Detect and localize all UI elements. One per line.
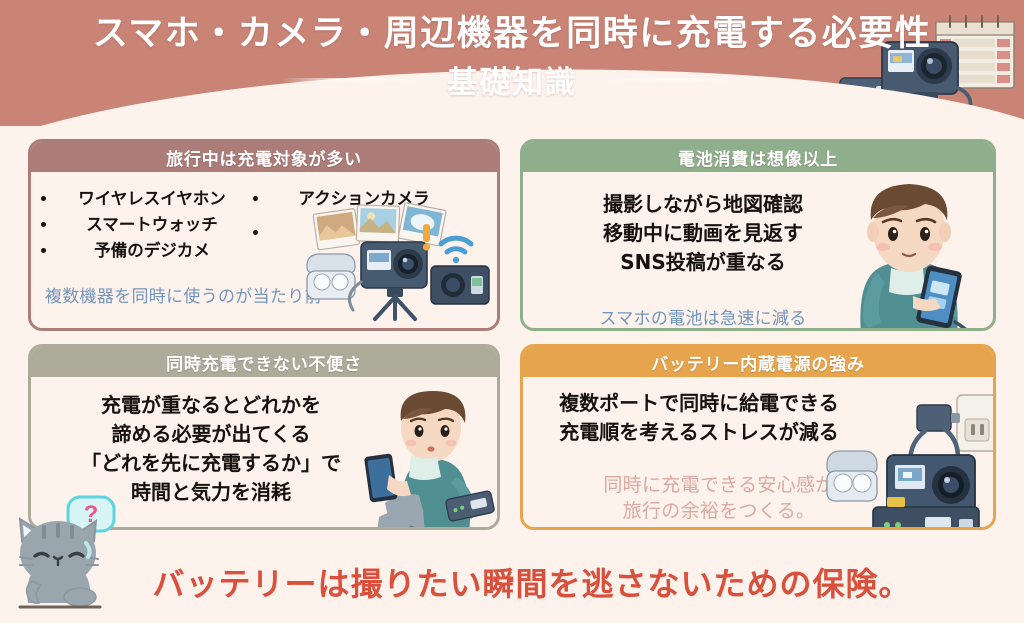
infographic-page: スマホ・カメラ・周辺機器を同時に充電する必要性 基礎知識 旅行中は充電対象が多い… — [0, 0, 1024, 623]
page-subtitle: 基礎知識 — [447, 57, 577, 102]
card-line: 「どれを先に充電するか」で — [45, 449, 377, 478]
bullet-dot-icon — [41, 248, 46, 253]
card-line: 移動中に動画を見返す — [543, 219, 863, 248]
bottom-banner: バッテリーは撮りたい瞬間を逃さないための保険。 — [0, 540, 1024, 623]
card-line: 撮影しながら地図確認 — [543, 190, 863, 219]
compact-camera-icon — [431, 266, 489, 304]
card-line: SNS投稿が重なる — [543, 248, 863, 277]
bullet-dot-icon — [253, 230, 258, 235]
list-item-label: ワイヤレスイヤホン — [55, 186, 249, 211]
card-header-bar: 電池消費は想像以上 — [523, 142, 993, 172]
card-battery-drain: 電池消費は想像以上 撮影しながら地図確認 移動中に動画を見返す SNS投稿が重な… — [520, 139, 996, 331]
exclamation-icon — [423, 224, 430, 251]
earbuds-case-icon — [307, 254, 355, 299]
card-line: 複数ポートで同時に給電できる — [529, 389, 869, 418]
card-heading: 同時充電できない不便さ — [166, 350, 362, 375]
subtitle-row: 基礎知識 — [0, 57, 1024, 102]
bullet-column-left: ワイヤレスイヤホン スマートウォッチ 予備のデジカメ — [41, 186, 249, 264]
decoration-line-left — [281, 78, 431, 82]
card-heading: バッテリー内蔵電源の強み — [651, 350, 865, 375]
earbuds-case-icon — [827, 451, 877, 501]
card-body: 撮影しながら地図確認 移動中に動画を見返す SNS投稿が重なる スマホの電池は急… — [523, 172, 993, 328]
wifi-icon — [441, 238, 471, 263]
card2-illustration-boy — [825, 172, 989, 331]
list-item: スマートウォッチ — [41, 212, 249, 237]
card-heading: 電池消費は想像以上 — [678, 145, 838, 170]
action-camera-tripod-icon — [349, 242, 427, 319]
card1-illustration — [305, 196, 495, 326]
card-body: 複数ポートで同時に給電できる 充電順を考えるストレスが減る 同時に充電できる安心… — [523, 377, 993, 527]
seated-boy-with-phone-icon — [364, 391, 495, 530]
card-header-bar: 同時充電できない不便さ — [31, 347, 497, 377]
header-banner: スマホ・カメラ・周辺機器を同時に充電する必要性 基礎知識 — [0, 0, 1024, 126]
card-header-bar: バッテリー内蔵電源の強み — [523, 347, 993, 377]
list-item: 予備のデジカメ — [41, 238, 249, 263]
decoration-line-right — [593, 78, 743, 82]
card3-illustration-boy — [345, 383, 495, 530]
list-item: ワイヤレスイヤホン — [41, 186, 249, 211]
card-header-bar: 旅行中は充電対象が多い — [31, 142, 497, 172]
bottom-message: バッテリーは撮りたい瞬間を逃さないための保険。 — [152, 559, 911, 605]
list-item-label: スマートウォッチ — [55, 212, 249, 237]
card-travel-devices: 旅行中は充電対象が多い ワイヤレスイヤホン スマートウォッチ 予備のデジカメ — [28, 139, 500, 331]
card-lines: 充電が重なるとどれかを 諦める必要が出てくる 「どれを先に充電するか」で 時間と… — [45, 391, 377, 507]
wall-outlet-icon — [957, 395, 996, 451]
card-body: ワイヤレスイヤホン スマートウォッチ 予備のデジカメ アクションカメラ — [31, 172, 497, 328]
card-builtin-battery-strength: バッテリー内蔵電源の強み 複数ポートで同時に給電できる 充電順を考えるストレスが… — [520, 344, 996, 530]
title-block: スマホ・カメラ・周辺機器を同時に充電する必要性 基礎知識 — [0, 14, 1024, 102]
page-title: スマホ・カメラ・周辺機器を同時に充電する必要性 — [0, 14, 1024, 53]
card4-illustration — [825, 379, 996, 530]
card-line: 充電が重なるとどれかを — [45, 391, 377, 420]
list-item-label: 予備のデジカメ — [55, 238, 249, 263]
card-heading: 旅行中は充電対象が多い — [166, 145, 362, 170]
bullet-dot-icon — [41, 196, 46, 201]
card-note: スマホの電池は急速に減る — [543, 304, 863, 329]
card-lines: 撮影しながら地図確認 移動中に動画を見返す SNS投稿が重なる — [543, 190, 863, 277]
card-line: 充電順を考えるストレスが減る — [529, 418, 869, 447]
bullet-dot-icon — [253, 196, 258, 201]
worried-boy-with-phone-icon — [860, 184, 971, 331]
card-line: 諦める必要が出てくる — [45, 420, 377, 449]
card-note: 複数機器を同時に使うのが当たり前 — [45, 282, 322, 307]
bullet-dot-icon — [41, 222, 46, 227]
card-lines: 複数ポートで同時に給電できる 充電順を考えるストレスが減る — [529, 389, 869, 447]
